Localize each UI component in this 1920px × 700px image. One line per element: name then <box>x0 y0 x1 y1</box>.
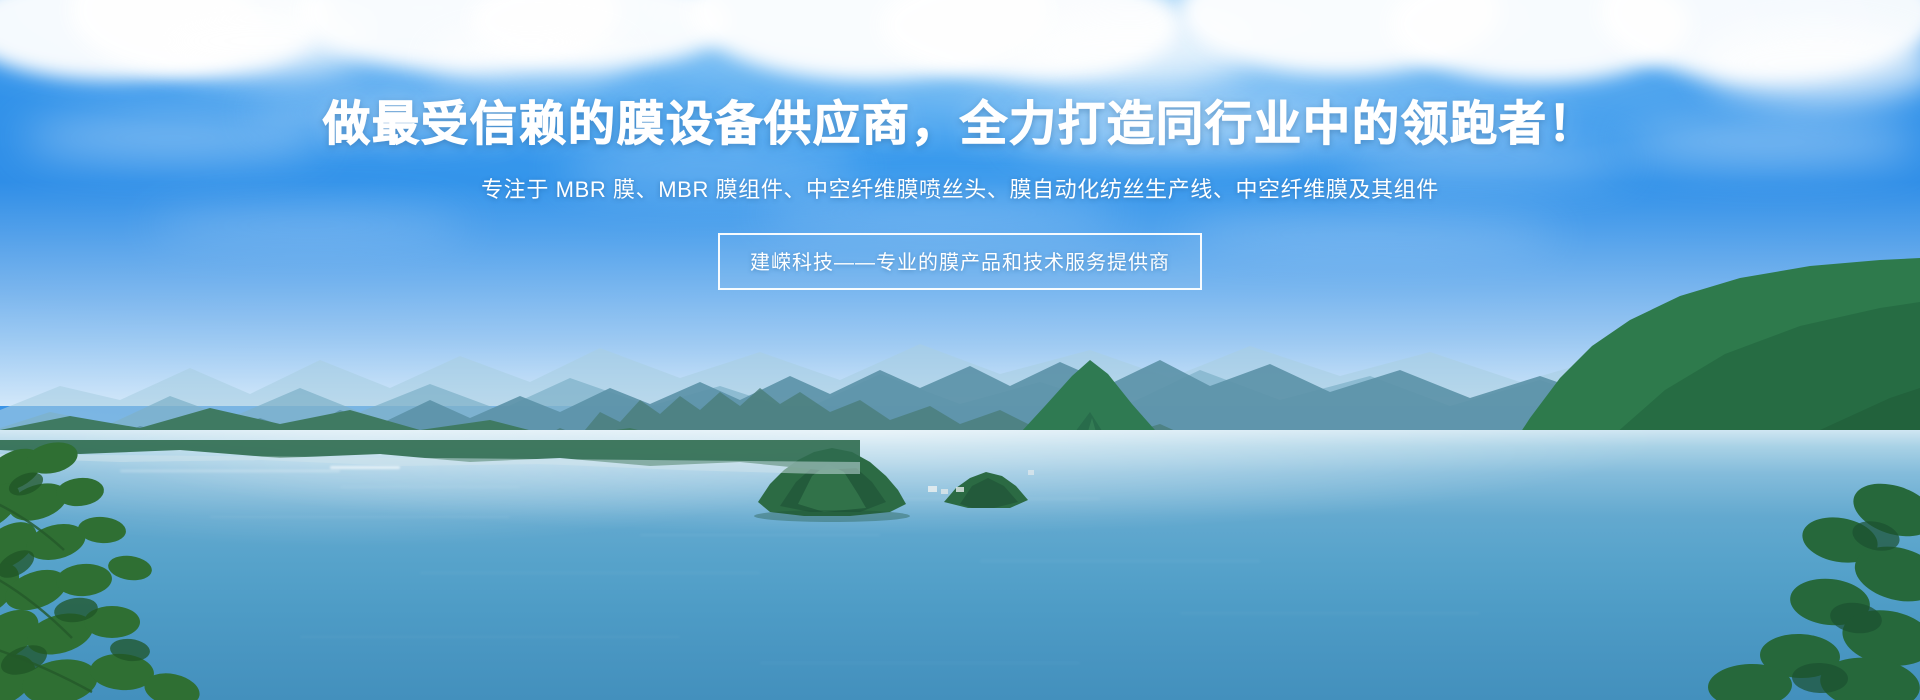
banner-tagline-wrapper: 建嵘科技——专业的膜产品和技术服务提供商 <box>0 233 1920 290</box>
foreground-foliage-left <box>0 400 240 700</box>
foreground-foliage-right <box>1630 470 1920 700</box>
banner-subheadline: 专注于 MBR 膜、MBR 膜组件、中空纤维膜喷丝头、膜自动化纺丝生产线、中空纤… <box>0 175 1920 206</box>
hero-banner: 做最受信赖的膜设备供应商，全力打造同行业中的领跑者！ 专注于 MBR 膜、MBR… <box>0 0 1920 700</box>
lake-islet <box>938 460 1034 514</box>
banner-headline: 做最受信赖的膜设备供应商，全力打造同行业中的领跑者！ <box>0 96 1920 151</box>
banner-tagline-box: 建嵘科技——专业的膜产品和技术服务提供商 <box>718 233 1202 290</box>
banner-content: 做最受信赖的膜设备供应商，全力打造同行业中的领跑者！ 专注于 MBR 膜、MBR… <box>0 0 1920 290</box>
